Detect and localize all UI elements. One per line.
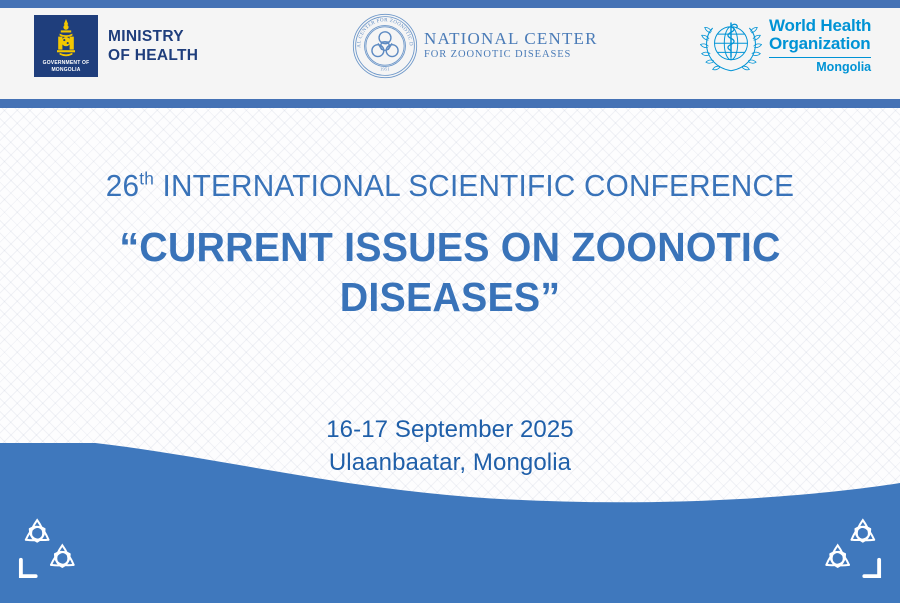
who-name-line2: Organization xyxy=(769,35,871,54)
who-mongolia-logo: World Health Organization Mongolia xyxy=(700,0,871,91)
slide-body: 26th INTERNATIONAL SCIENTIFIC CONFERENCE… xyxy=(0,108,900,603)
title-block: 26th INTERNATIONAL SCIENTIFIC CONFERENCE… xyxy=(0,166,900,322)
conference-theme-line2: DISEASES” xyxy=(18,272,882,322)
conference-title-slide: GOVERNMENT OF MONGOLIA MINISTRY OF HEALT… xyxy=(0,0,900,603)
triquetra-knot-ornament-right xyxy=(814,511,888,585)
conference-edition-line: 26th INTERNATIONAL SCIENTIFIC CONFERENCE xyxy=(18,166,882,206)
ministry-name-line2: OF HEALTH xyxy=(108,46,198,65)
conference-theme-line1: “CURRENT ISSUES ON ZOONOTIC xyxy=(18,222,882,272)
national-center-name: NATIONAL CENTER FOR ZOONOTIC DISEASES xyxy=(424,29,598,62)
zoonotic-seal-icon: NATIONAL CENTER FOR ZOONOTIC DISEASES 19… xyxy=(352,13,418,79)
national-center-zoonotic-diseases-logo: NATIONAL CENTER FOR ZOONOTIC DISEASES 19… xyxy=(352,0,598,91)
who-emblem-icon xyxy=(700,17,762,75)
who-country-label: Mongolia xyxy=(769,60,871,74)
svg-text:1951: 1951 xyxy=(380,66,390,71)
conference-label: INTERNATIONAL SCIENTIFIC CONFERENCE xyxy=(154,168,794,203)
bottom-wave-decoration xyxy=(0,443,900,603)
ministry-name-line1: MINISTRY xyxy=(108,27,198,46)
conference-theme-title: “CURRENT ISSUES ON ZOONOTIC DISEASES” xyxy=(18,222,882,322)
emblem-caption-line2: MONGOLIA xyxy=(34,67,98,74)
national-center-name-line1: NATIONAL CENTER xyxy=(424,29,598,48)
ministry-of-health-logo: GOVERNMENT OF MONGOLIA MINISTRY OF HEALT… xyxy=(34,0,198,91)
who-divider-rule xyxy=(769,57,871,59)
mongolia-state-emblem-icon: GOVERNMENT OF MONGOLIA xyxy=(34,15,98,77)
ministry-of-health-name: MINISTRY OF HEALTH xyxy=(108,27,198,65)
wave-blue-band xyxy=(0,443,900,603)
header-divider-bar xyxy=(0,99,900,108)
who-name-block: World Health Organization Mongolia xyxy=(769,17,871,75)
event-date: 16-17 September 2025 xyxy=(0,413,900,446)
conference-number: 26 xyxy=(106,168,139,203)
emblem-caption-line1: GOVERNMENT OF xyxy=(34,60,98,67)
conference-ordinal-suffix: th xyxy=(139,169,154,189)
national-center-name-line2: FOR ZOONOTIC DISEASES xyxy=(424,48,598,62)
triquetra-knot-ornament-left xyxy=(12,511,86,585)
emblem-caption: GOVERNMENT OF MONGOLIA xyxy=(34,60,98,74)
who-name-line1: World Health xyxy=(769,17,871,36)
